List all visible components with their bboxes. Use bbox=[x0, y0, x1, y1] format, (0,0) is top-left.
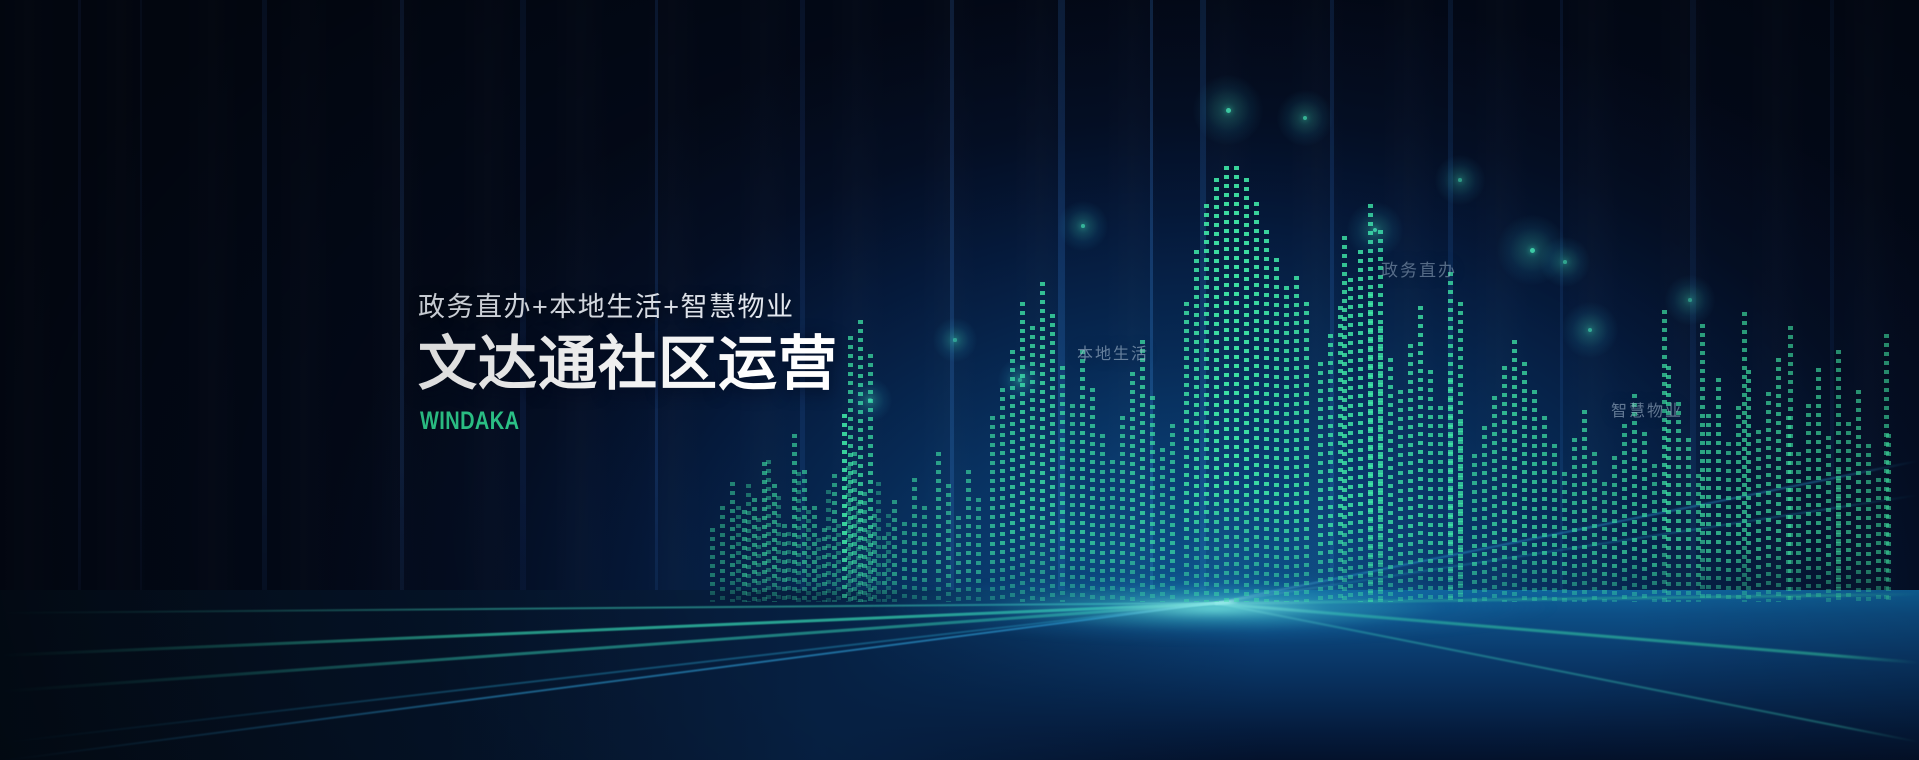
building-column bbox=[1388, 358, 1393, 602]
particle-dot bbox=[1530, 248, 1535, 253]
building-column bbox=[1542, 416, 1547, 602]
building-column bbox=[1602, 482, 1607, 602]
building-column-left bbox=[816, 538, 821, 602]
particle-dot bbox=[1688, 298, 1692, 302]
building-column bbox=[1224, 166, 1229, 602]
building-column bbox=[1512, 340, 1517, 602]
building-column bbox=[1020, 302, 1025, 602]
city-label-3: 智慧物业 bbox=[1611, 397, 1683, 421]
building-column-left bbox=[826, 490, 831, 602]
particle-dot bbox=[1018, 378, 1021, 381]
building-column bbox=[720, 506, 725, 602]
building-column bbox=[1398, 390, 1403, 602]
building-column bbox=[1472, 454, 1477, 602]
particle-dot bbox=[953, 338, 956, 341]
building-column bbox=[1040, 282, 1045, 602]
building-column bbox=[1050, 314, 1055, 602]
particle-dot bbox=[1588, 328, 1592, 332]
building-column bbox=[1726, 442, 1731, 602]
headline-block: 政务直办+本地生活+智慧物业 文达通社区运营 WINDAKA bbox=[418, 294, 838, 434]
building-column bbox=[1184, 302, 1189, 602]
building-column bbox=[1652, 464, 1657, 602]
particle-dot bbox=[1226, 108, 1231, 113]
building-column bbox=[936, 452, 941, 602]
building-column bbox=[1612, 456, 1617, 602]
building-column bbox=[1816, 368, 1821, 602]
building-column-left bbox=[856, 502, 861, 602]
building-column bbox=[976, 498, 981, 602]
building-column bbox=[1866, 444, 1871, 602]
building-column bbox=[1234, 166, 1239, 602]
building-column-left bbox=[746, 484, 751, 602]
building-column bbox=[1632, 394, 1637, 602]
building-column bbox=[1756, 430, 1761, 602]
building-column-left bbox=[836, 524, 841, 602]
particle-dot bbox=[1081, 224, 1085, 228]
city-label-2: 本地生活 bbox=[1077, 340, 1149, 364]
building-column bbox=[966, 470, 971, 602]
building-column bbox=[1170, 424, 1175, 602]
building-column bbox=[1700, 324, 1705, 602]
building-column bbox=[1742, 312, 1747, 602]
building-column bbox=[1856, 390, 1861, 602]
building-column bbox=[1662, 310, 1667, 602]
building-column bbox=[1204, 204, 1209, 602]
building-column bbox=[1100, 434, 1105, 602]
building-column-left bbox=[846, 466, 851, 602]
building-column bbox=[730, 482, 735, 602]
banner-title: 文达通社区运营 bbox=[418, 335, 838, 394]
particle-dot bbox=[1458, 178, 1462, 182]
building-column bbox=[1294, 276, 1299, 602]
building-column bbox=[1130, 372, 1135, 602]
particle-dot bbox=[1563, 260, 1567, 264]
building-column bbox=[1060, 366, 1065, 602]
brand-wordmark: WINDAKA bbox=[420, 409, 754, 434]
building-column-left bbox=[886, 514, 891, 602]
building-column bbox=[1642, 432, 1647, 602]
building-column bbox=[1428, 370, 1433, 602]
building-column bbox=[1214, 178, 1219, 602]
building-column-left bbox=[736, 506, 741, 602]
building-column bbox=[1806, 404, 1811, 602]
banner-stage: 政务直办本地生活智慧物业 政务直办+本地生活+智慧物业 文达通社区运营 WIND… bbox=[0, 0, 1919, 760]
building-column bbox=[1342, 236, 1347, 602]
building-column bbox=[1522, 362, 1527, 602]
building-column bbox=[956, 516, 961, 602]
building-column bbox=[1884, 334, 1889, 602]
building-column bbox=[1080, 350, 1085, 602]
building-column bbox=[1562, 472, 1567, 602]
building-column bbox=[1552, 444, 1557, 602]
building-column bbox=[1438, 406, 1443, 602]
building-column bbox=[1090, 388, 1095, 602]
building-column bbox=[1070, 404, 1075, 602]
building-column bbox=[1150, 396, 1155, 602]
building-column bbox=[946, 484, 951, 602]
building-column-left bbox=[756, 518, 761, 602]
building-column bbox=[1846, 422, 1851, 602]
building-column bbox=[1358, 250, 1363, 602]
building-column bbox=[1378, 230, 1383, 602]
banner-subtitle: 政务直办+本地生活+智慧物业 bbox=[418, 294, 838, 321]
building-column bbox=[1582, 410, 1587, 602]
building-column bbox=[1706, 414, 1711, 602]
building-column bbox=[912, 478, 917, 602]
building-column bbox=[1686, 438, 1691, 602]
building-column-left bbox=[766, 460, 771, 602]
building-column bbox=[1160, 448, 1165, 602]
building-column bbox=[1408, 344, 1413, 602]
city-label-1: 政务直办 bbox=[1381, 256, 1457, 281]
building-column bbox=[1572, 438, 1577, 602]
building-column-left bbox=[776, 496, 781, 602]
building-column bbox=[1110, 460, 1115, 602]
building-column bbox=[1274, 258, 1279, 602]
building-column-left bbox=[806, 510, 811, 602]
building-column bbox=[1736, 406, 1741, 602]
building-column bbox=[1244, 178, 1249, 602]
building-column bbox=[1766, 392, 1771, 602]
building-column bbox=[1348, 278, 1353, 602]
building-column bbox=[1776, 358, 1781, 602]
building-column bbox=[1532, 390, 1537, 602]
building-column-left bbox=[876, 482, 881, 602]
building-column bbox=[1676, 402, 1681, 602]
building-column bbox=[990, 416, 995, 602]
building-column bbox=[710, 528, 715, 602]
building-column bbox=[1448, 272, 1453, 602]
building-column bbox=[1418, 306, 1423, 602]
building-column bbox=[1140, 340, 1145, 602]
building-column-left bbox=[786, 532, 791, 602]
building-column bbox=[1482, 426, 1487, 602]
building-column bbox=[1826, 436, 1831, 602]
particle-dot bbox=[1303, 116, 1307, 120]
particle-dot bbox=[868, 398, 871, 401]
building-column bbox=[1458, 302, 1463, 602]
building-column bbox=[1328, 334, 1333, 602]
building-column bbox=[1304, 302, 1309, 602]
building-column bbox=[1492, 396, 1497, 602]
building-column bbox=[1876, 478, 1881, 602]
building-column bbox=[1368, 204, 1373, 602]
building-column bbox=[1254, 202, 1259, 602]
building-column bbox=[1000, 388, 1005, 602]
building-column bbox=[1264, 230, 1269, 602]
building-column-left bbox=[796, 472, 801, 602]
building-column bbox=[1284, 286, 1289, 602]
building-column bbox=[1836, 350, 1841, 602]
building-column bbox=[902, 522, 907, 602]
building-column bbox=[922, 506, 927, 602]
building-column bbox=[892, 500, 897, 602]
building-column-left bbox=[866, 530, 871, 602]
building-column bbox=[1194, 250, 1199, 602]
building-column bbox=[1502, 366, 1507, 602]
dotted-city-skyline bbox=[0, 0, 1919, 760]
particle-dot bbox=[1373, 228, 1377, 232]
building-column bbox=[1592, 452, 1597, 602]
building-column bbox=[1318, 362, 1323, 602]
building-column bbox=[1796, 452, 1801, 602]
building-column bbox=[1622, 424, 1627, 602]
building-column bbox=[1788, 326, 1793, 602]
building-column bbox=[1120, 416, 1125, 602]
building-column bbox=[1716, 378, 1721, 602]
